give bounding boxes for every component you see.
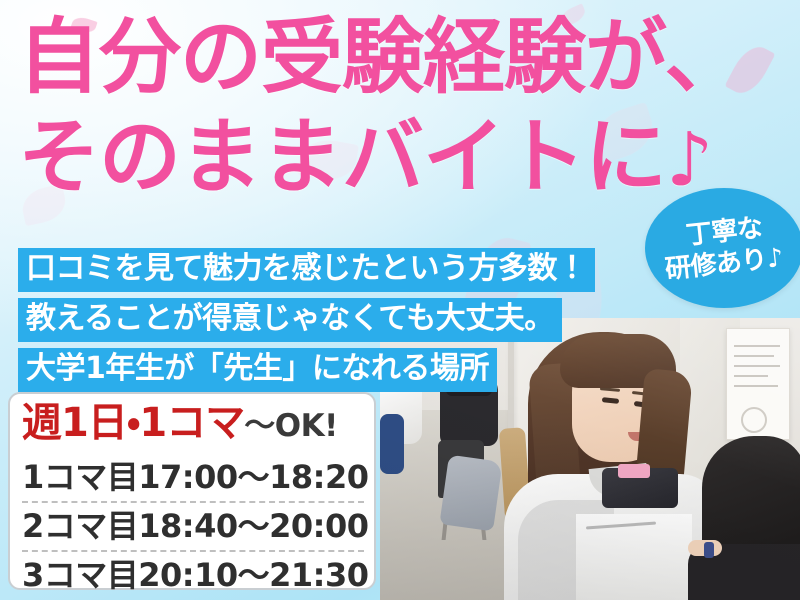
- schedule-title: 週1日・1コマ〜OK!: [22, 400, 364, 454]
- headline-line-1: 自分の受験経験が、: [18, 10, 758, 106]
- schedule-slot-2: 2コマ目18:40〜20:00: [22, 501, 364, 550]
- headline-line-2-text: そのままバイトに: [18, 110, 666, 205]
- job-ad-banner: 自分の受験経験が、 そのままバイトに♪ 丁寧な 研修あり♪ 口コミを見て魅力を感…: [0, 0, 800, 600]
- training-badge-line-2: 研修あり♪: [664, 242, 785, 286]
- headline-line-2: そのままバイトに♪: [18, 112, 758, 206]
- highlight-row: 教えることが得意じゃなくても大丈夫。: [18, 298, 595, 348]
- schedule-title-emphasis: 週1日・1コマ: [22, 400, 244, 446]
- schedule-slot-3: 3コマ目20:10〜21:30: [22, 550, 364, 599]
- highlight-bar-1: 口コミを見て魅力を感じたという方多数！: [18, 248, 595, 292]
- schedule-panel: 週1日・1コマ〜OK! 1コマ目17:00〜18:20 2コマ目18:40〜20…: [8, 392, 376, 590]
- highlight-bar-3: 大学1年生が「先生」になれる場所: [18, 348, 497, 392]
- highlight-row: 大学1年生が「先生」になれる場所: [18, 348, 595, 398]
- headline: 自分の受験経験が、 そのままバイトに♪: [18, 10, 758, 206]
- schedule-title-suffix: 〜OK!: [244, 408, 338, 444]
- highlight-list: 口コミを見て魅力を感じたという方多数！ 教えることが得意じゃなくても大丈夫。 大…: [18, 248, 595, 398]
- highlight-row: 口コミを見て魅力を感じたという方多数！: [18, 248, 595, 298]
- highlight-bar-2: 教えることが得意じゃなくても大丈夫。: [18, 298, 562, 342]
- training-badge: 丁寧な 研修あり♪: [645, 188, 800, 308]
- schedule-slot-1: 1コマ目17:00〜18:20: [22, 454, 364, 501]
